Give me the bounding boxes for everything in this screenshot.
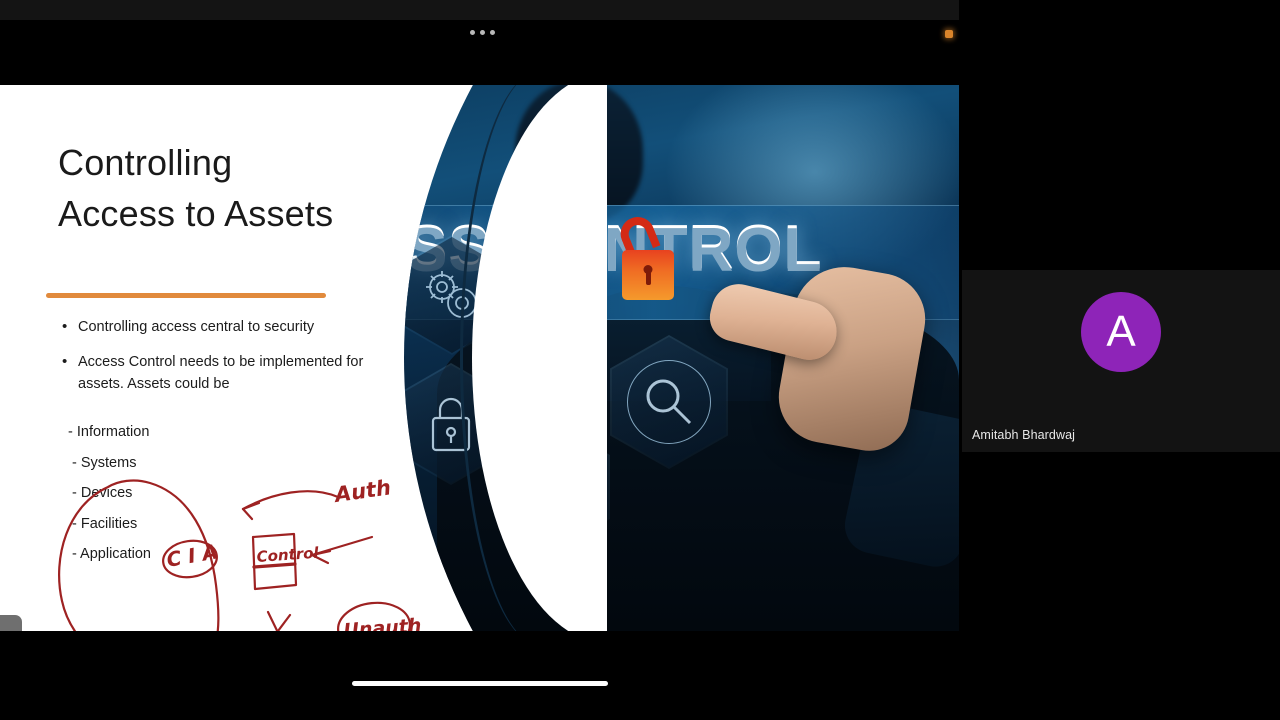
home-indicator[interactable] bbox=[352, 681, 608, 686]
avatar-initial: A bbox=[1106, 310, 1135, 354]
list-item: - Application bbox=[72, 547, 272, 562]
page-title: Controlling Access to Assets bbox=[58, 137, 438, 239]
expand-panel-button[interactable]: ❯ bbox=[0, 615, 22, 631]
slide-text-column: Controlling Access to Assets Controlling… bbox=[0, 85, 470, 631]
padlock-body bbox=[622, 250, 674, 300]
list-item: Access Control needs to be implemented f… bbox=[60, 352, 390, 395]
list-item: - Systems bbox=[72, 456, 272, 471]
dot-1 bbox=[470, 30, 475, 35]
padlock-open-icon bbox=[622, 250, 674, 300]
slide-title-line-1: Controlling bbox=[58, 137, 438, 188]
list-item: - Information bbox=[68, 425, 272, 440]
slide-photo: SS CONTROL bbox=[404, 85, 959, 631]
avatar: A bbox=[1081, 292, 1161, 372]
three-dots-icon[interactable] bbox=[470, 30, 495, 35]
title-accent-rule bbox=[46, 293, 326, 298]
meeting-screen: Controlling Access to Assets Controlling… bbox=[0, 0, 1280, 720]
dot-2 bbox=[480, 30, 485, 35]
dot-3 bbox=[490, 30, 495, 35]
top-status-bar bbox=[0, 0, 959, 20]
list-item: - Devices bbox=[72, 486, 272, 501]
pointing-hand bbox=[704, 235, 919, 565]
recording-dot-icon bbox=[945, 30, 953, 38]
slide-sub-list: - Information - Systems - Devices - Faci… bbox=[72, 425, 272, 578]
participant-rail: A Amitabh Bhardwaj bbox=[960, 0, 1280, 720]
list-item: Controlling access central to security bbox=[60, 317, 390, 338]
participant-tile[interactable]: A Amitabh Bhardwaj bbox=[962, 270, 1280, 452]
list-item: - Facilities bbox=[72, 517, 272, 532]
padlock-keyhole bbox=[644, 265, 653, 274]
participant-name: Amitabh Bhardwaj bbox=[972, 428, 1075, 442]
slide-title-line-2: Access to Assets bbox=[58, 188, 438, 239]
shared-screen-slide[interactable]: Controlling Access to Assets Controlling… bbox=[0, 85, 959, 631]
slide-bullet-list: Controlling access central to security A… bbox=[60, 317, 390, 409]
